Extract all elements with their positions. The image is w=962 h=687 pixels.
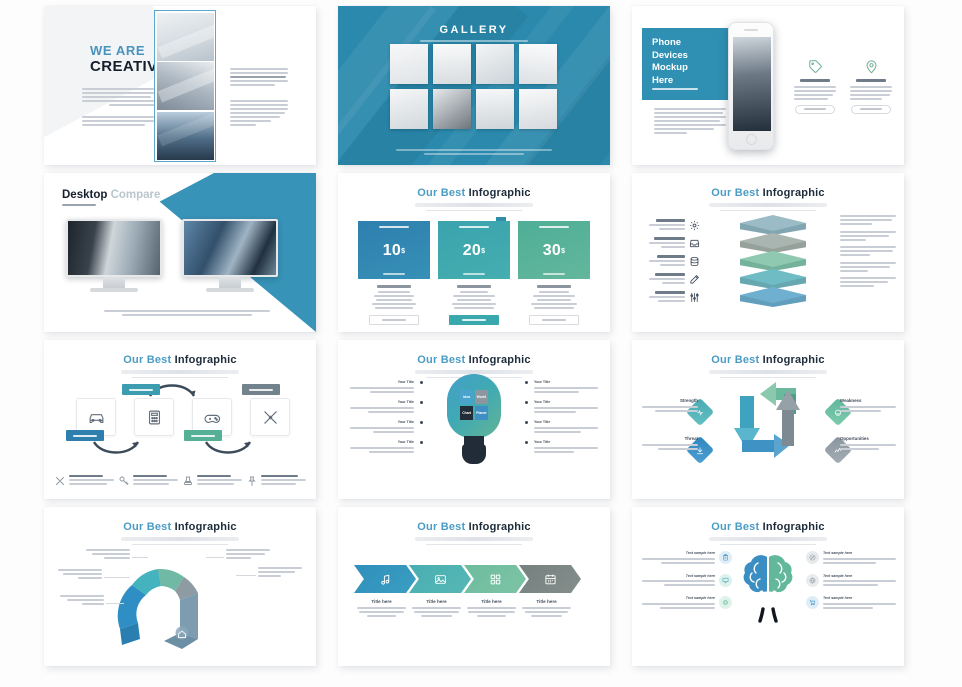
step-box[interactable]	[134, 398, 174, 436]
gallery-thumb[interactable]	[476, 44, 514, 84]
title-part-a: Our Best	[711, 354, 759, 366]
bottom-item	[118, 475, 178, 488]
monitor-base	[90, 288, 138, 292]
feature-desc	[794, 86, 836, 100]
title-line-4: Here	[652, 75, 688, 88]
title-underline	[415, 203, 533, 207]
item-title: Text sample here	[823, 574, 896, 578]
bottom-item	[246, 475, 306, 488]
panel-subtitle	[652, 88, 698, 92]
body-paragraph-2	[82, 116, 154, 128]
slide-gallery[interactable]: GALLERY	[338, 6, 610, 165]
feature-title	[856, 79, 886, 82]
pricing-card-list: 10$	[358, 221, 590, 325]
title-rule	[426, 210, 522, 211]
feature-title	[800, 79, 830, 82]
pricing-card[interactable]: 20$	[438, 221, 510, 325]
plan-label	[518, 221, 590, 233]
puzzle-piece[interactable]: Chart	[460, 406, 473, 420]
compass-icon[interactable]	[806, 551, 819, 564]
title-part-a: Our Best	[417, 187, 465, 199]
slide-brain-infographic[interactable]: Our Best Infographic Text sample here	[632, 507, 904, 666]
callout	[60, 595, 104, 607]
step-label: Title here	[354, 599, 409, 617]
gallery-title: GALLERY	[338, 24, 610, 36]
list-item: Your Title	[534, 380, 598, 393]
monitor-neck	[219, 277, 241, 288]
title-part-a: Our Best	[711, 521, 759, 533]
slide-layer-stack-infographic[interactable]: Our Best Infographic	[632, 173, 904, 332]
inbox-icon	[689, 238, 700, 249]
slide-pricing-infographic[interactable]: Our Best Infographic 10$	[338, 173, 610, 332]
gallery-footer-text	[396, 149, 552, 155]
page-title: Our Best Infographic	[44, 507, 316, 533]
glass-tower-screen	[182, 219, 278, 277]
plan-price: 30$	[518, 233, 590, 269]
panel-title: Phone Devices Mockup Here	[652, 37, 688, 87]
monitor-neck	[103, 277, 125, 288]
page-title: Our Best Infographic	[632, 507, 904, 533]
plan-label	[358, 221, 430, 233]
brain-graphic	[738, 551, 798, 625]
gear-icon	[689, 220, 700, 231]
title-line-2: Devices	[652, 50, 688, 63]
title-rule	[720, 377, 816, 378]
plan-features	[518, 285, 590, 309]
title-part-b: Infographic	[469, 187, 531, 199]
plan-features	[438, 285, 510, 309]
phone-screen	[733, 37, 771, 131]
gallery-thumb[interactable]	[519, 89, 557, 129]
callout	[258, 567, 302, 579]
slide-phone-devices-mockup[interactable]: Phone Devices Mockup Here	[632, 6, 904, 165]
list-item: Your Title	[534, 420, 598, 433]
slide-title: Desktop Compare	[62, 189, 160, 201]
monitor-left	[66, 219, 162, 292]
title-underline	[121, 537, 239, 541]
glass-tower-photo	[157, 112, 214, 160]
leader-line	[104, 577, 130, 578]
slide-we-are-creative[interactable]: WE ARE CREATIVE	[44, 6, 316, 165]
right-item-list: Your Title Your Title Your Title Your Ti…	[534, 380, 598, 460]
left-item-list: Your Title Your Title Your Title Your Ti…	[350, 380, 414, 460]
text-block	[840, 262, 896, 272]
database-icon	[689, 256, 700, 267]
title-part-a: Our Best	[417, 521, 465, 533]
plan-period	[358, 269, 430, 279]
gallery-thumb[interactable]	[390, 89, 428, 129]
grid-icon	[489, 573, 502, 586]
slide-grid: WE ARE CREATIVE	[44, 6, 924, 681]
title-part-a: Our Best	[711, 187, 759, 199]
plan-cta-button[interactable]	[369, 315, 419, 325]
list-item	[642, 291, 700, 304]
item-title: Text sample here	[823, 596, 896, 600]
monitor-right	[182, 219, 278, 292]
step-box-row	[58, 390, 302, 446]
list-item	[642, 255, 700, 268]
music-note-icon	[379, 573, 392, 586]
item-title: Text sample here	[823, 551, 896, 555]
step-label: Title here	[464, 599, 519, 617]
title-part-a: Our Best	[417, 354, 465, 366]
monitor-icon[interactable]	[719, 574, 732, 587]
step-tag[interactable]	[66, 430, 104, 441]
right-text-list	[840, 215, 896, 293]
slide-bulb-puzzle-infographic[interactable]: Our Best Infographic Idea World Chart Pl…	[338, 340, 610, 499]
right-item-list: Text sample here Text sample here Text s…	[806, 551, 896, 611]
page-title: Our Best Infographic	[338, 340, 610, 366]
slide-swot-cycle-infographic[interactable]: Our Best Infographic	[632, 340, 904, 499]
slide-desktop-compare[interactable]: Desktop Compare	[44, 173, 316, 332]
globe-icon[interactable]	[806, 574, 819, 587]
image-icon	[434, 573, 447, 586]
gallery-thumb[interactable]	[476, 89, 514, 129]
item-title: Text sample here	[642, 551, 715, 555]
plan-label	[438, 221, 510, 233]
title-part-a: Our Best	[123, 354, 171, 366]
phone-home-button	[746, 134, 757, 145]
step-title: Title here	[412, 599, 461, 604]
quadrant-text-strength: Strength	[642, 398, 698, 414]
photo-strip	[154, 10, 216, 162]
chip-icon[interactable]	[719, 596, 732, 609]
quadrant-text-opportunities: Opportunities	[840, 436, 896, 452]
title-rule	[132, 544, 228, 545]
car-icon	[88, 409, 105, 426]
pin-icon	[246, 475, 258, 487]
cycle-arrows	[730, 380, 806, 458]
plan-period	[438, 269, 510, 279]
page-title: Our Best Infographic	[632, 340, 904, 366]
text-block	[840, 215, 896, 225]
title-rule	[720, 544, 816, 545]
body-paragraph-1	[82, 88, 154, 108]
text-block	[840, 231, 896, 241]
list-item: Your Title	[350, 400, 414, 413]
right-paragraph-1	[230, 68, 288, 88]
gallery-header: GALLERY	[338, 24, 610, 44]
slide-caption	[104, 310, 270, 316]
slide-process-boxes-infographic[interactable]: Our Best Infographic	[44, 340, 316, 499]
list-item: Text sample here	[642, 596, 732, 611]
gamepad-icon	[204, 409, 221, 426]
list-item: Your Title	[534, 440, 598, 453]
gallery-thumb[interactable]	[390, 44, 428, 84]
arrow-loop	[730, 380, 806, 458]
list-item	[642, 273, 700, 286]
slide-chevron-steps-infographic[interactable]: Our Best Infographic	[338, 507, 610, 666]
clipboard-icon[interactable]	[719, 551, 732, 564]
sliders-icon	[689, 292, 700, 303]
leader-line	[206, 557, 224, 558]
list-item: Your Title	[350, 420, 414, 433]
bottom-item	[182, 475, 242, 488]
bottom-item	[54, 475, 114, 488]
title-part-b: Infographic	[763, 521, 825, 533]
callout	[86, 549, 130, 561]
page-title: Our Best Infographic	[338, 173, 610, 199]
page-title: Our Best Infographic	[44, 340, 316, 366]
title-underline	[415, 537, 533, 541]
quadrant-label: Strength	[642, 398, 698, 403]
step-box[interactable]	[250, 398, 290, 436]
feature-desc	[850, 86, 892, 100]
plan-cta-button[interactable]	[449, 315, 499, 325]
step-title: Title here	[522, 599, 571, 604]
puzzle-piece[interactable]: Idea	[460, 390, 473, 404]
key-icon	[118, 475, 130, 487]
stamp-icon	[182, 475, 194, 487]
cart-icon[interactable]	[806, 596, 819, 609]
slide-arc-3d-infographic[interactable]: Our Best Infographic	[44, 507, 316, 666]
title-underline	[121, 370, 239, 374]
list-item	[642, 219, 700, 232]
slide-thumbnail-board: WE ARE CREATIVE	[0, 0, 962, 687]
step-tag[interactable]	[242, 384, 280, 395]
puzzle-piece[interactable]: World	[475, 390, 488, 404]
title-part-a: Our Best	[123, 521, 171, 533]
step-label: Title here	[519, 599, 574, 617]
puzzle-piece[interactable]: Planet	[475, 406, 488, 420]
item-title: Text sample here	[642, 596, 715, 600]
arc-3d-graphic	[106, 555, 226, 651]
title-part-b: Compare	[111, 189, 161, 201]
pricing-card[interactable]: 10$	[358, 221, 430, 325]
quadrant-label: Weakness	[840, 398, 896, 403]
gallery-thumb[interactable]	[433, 89, 471, 129]
bottom-item-row	[54, 475, 306, 488]
leader-line	[106, 603, 124, 604]
right-paragraph-2	[230, 100, 288, 128]
spiral-staircase-photo	[157, 62, 214, 110]
tools-icon	[262, 409, 279, 426]
text-block	[840, 246, 896, 256]
plan-price: 20$	[438, 233, 510, 269]
quadrant-label: Opportunities	[840, 436, 896, 441]
left-item-list: Text sample here Text sample here Text s…	[642, 551, 732, 611]
step-title: Title here	[357, 599, 406, 604]
interior-ceiling-photo	[157, 13, 214, 61]
text-block	[840, 277, 896, 287]
monitor-base	[206, 288, 254, 292]
title-panel: Phone Devices Mockup Here	[642, 28, 740, 100]
title-part-b: Infographic	[469, 354, 531, 366]
callout	[58, 569, 102, 581]
calendar-icon	[544, 573, 557, 586]
title-line-3: Mockup	[652, 62, 688, 75]
feature-columns	[792, 56, 894, 114]
chevron-row	[354, 565, 581, 593]
title-underline	[709, 537, 827, 541]
title-part-b: Infographic	[175, 354, 237, 366]
quadrant-text-weakness: Weakness	[840, 398, 896, 414]
title-part-b: Infographic	[763, 354, 825, 366]
bulb-base	[462, 444, 486, 464]
list-item: Your Title	[350, 380, 414, 393]
step-label: Title here	[409, 599, 464, 617]
chevron-step[interactable]	[464, 565, 526, 593]
building-facade-screen	[66, 219, 162, 277]
plan-features	[358, 285, 430, 309]
list-item: Text sample here	[806, 551, 896, 566]
title-part-b: Infographic	[763, 187, 825, 199]
list-item: Your Title	[534, 400, 598, 413]
plan-price: 10$	[358, 233, 430, 269]
slide-subtitle	[62, 204, 96, 208]
body-paragraph	[654, 108, 726, 136]
feature-button[interactable]	[795, 105, 835, 114]
list-item: Your Title	[350, 440, 414, 453]
stack-layer	[740, 287, 806, 313]
chevron-label-row: Title here Title here Title here Title h…	[354, 599, 574, 617]
title-underline	[709, 370, 827, 374]
feature-item	[848, 56, 894, 114]
gallery-thumb[interactable]	[433, 44, 471, 84]
leader-line	[132, 557, 148, 558]
gallery-subtitle	[420, 40, 528, 42]
list-item: Text sample here	[806, 596, 896, 611]
left-item-list	[642, 219, 700, 309]
wrench-icon	[54, 475, 66, 487]
title-part-a: Desktop	[62, 189, 107, 201]
page-title: Our Best Infographic	[632, 173, 904, 199]
leader-line	[236, 575, 256, 576]
title-rule	[426, 544, 522, 545]
tag-icon	[792, 56, 838, 76]
list-item: Text sample here	[642, 574, 732, 589]
feature-item	[792, 56, 838, 114]
callout	[226, 549, 270, 561]
gallery-thumbnail-grid	[390, 44, 560, 129]
pencil-icon	[689, 274, 700, 285]
calculator-icon	[146, 409, 163, 426]
chevron-step[interactable]	[409, 565, 471, 593]
step-tag[interactable]	[122, 384, 160, 395]
layer-stack	[740, 215, 806, 311]
page-title: Our Best Infographic	[338, 507, 610, 533]
title-underline	[709, 203, 827, 207]
quadrant-label: Threat	[642, 436, 698, 441]
step-title: Title here	[467, 599, 516, 604]
plan-cta-button[interactable]	[529, 315, 579, 325]
puzzle-grid: Idea World Chart Planet	[460, 390, 488, 420]
plan-period	[518, 269, 590, 279]
feature-button[interactable]	[851, 105, 891, 114]
title-line-1: Phone	[652, 37, 688, 50]
step-tag[interactable]	[184, 430, 222, 441]
list-item: Text sample here	[642, 551, 732, 566]
chevron-step[interactable]	[519, 565, 581, 593]
lightbulb-graphic: Idea World Chart Planet	[447, 374, 501, 466]
title-part-b: Infographic	[175, 521, 237, 533]
location-pin-icon	[848, 56, 894, 76]
item-title: Text sample here	[642, 574, 715, 578]
quadrant-text-threat: Threat	[642, 436, 698, 452]
chevron-step[interactable]	[354, 565, 416, 593]
list-item	[642, 237, 700, 250]
title-rule	[720, 210, 816, 211]
title-part-b: Infographic	[469, 521, 531, 533]
gallery-thumb[interactable]	[519, 44, 557, 84]
pricing-card[interactable]: 30$	[518, 221, 590, 325]
phone-mockup	[728, 22, 774, 150]
phone-speaker	[744, 29, 758, 31]
list-item: Text sample here	[806, 574, 896, 589]
